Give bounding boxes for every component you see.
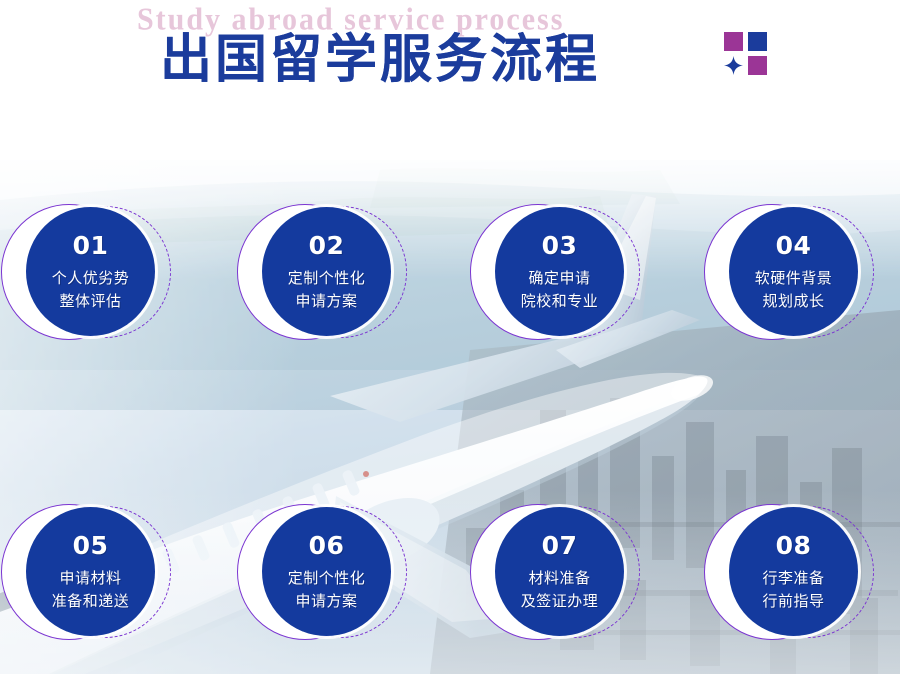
- step-number: 04: [776, 233, 812, 258]
- sparkle-star-icon: [724, 56, 743, 75]
- step-number: 06: [309, 533, 345, 558]
- step-item-07[interactable]: 07 材料准备 及签证办理: [464, 498, 660, 648]
- step-number: 01: [73, 233, 109, 258]
- purple-square-icon: [724, 32, 743, 51]
- step-text-line1: 行李准备: [762, 567, 824, 590]
- step-disc[interactable]: 06 定制个性化 申请方案: [262, 507, 391, 636]
- step-text-line2: 整体评估: [59, 290, 121, 313]
- step-disc[interactable]: 05 申请材料 准备和递送: [26, 507, 155, 636]
- step-text-line2: 及签证办理: [521, 590, 599, 613]
- step-number: 07: [542, 533, 578, 558]
- step-number: 03: [542, 233, 578, 258]
- step-text-line1: 定制个性化: [288, 567, 366, 590]
- step-text-line2: 申请方案: [295, 290, 357, 313]
- step-disc[interactable]: 02 定制个性化 申请方案: [262, 207, 391, 336]
- header-title-block: Study abroad service process 出国留学服务流程: [0, 0, 900, 110]
- step-text-line1: 定制个性化: [288, 267, 366, 290]
- step-item-04[interactable]: 04 软硬件背景 规划成长: [698, 198, 894, 348]
- step-disc[interactable]: 04 软硬件背景 规划成长: [729, 207, 858, 336]
- step-number: 05: [73, 533, 109, 558]
- step-disc[interactable]: 01 个人优劣势 整体评估: [26, 207, 155, 336]
- step-disc[interactable]: 03 确定申请 院校和专业: [495, 207, 624, 336]
- step-item-05[interactable]: 05 申请材料 准备和递送: [0, 498, 191, 648]
- step-text-line2: 准备和递送: [52, 590, 130, 613]
- step-text-line2: 行前指导: [762, 590, 824, 613]
- header-banner: Study abroad service process 出国留学服务流程: [0, 0, 900, 160]
- step-number: 02: [309, 233, 345, 258]
- purple-square-icon: [748, 56, 767, 75]
- step-text-line1: 材料准备: [528, 567, 590, 590]
- step-item-03[interactable]: 03 确定申请 院校和专业: [464, 198, 660, 348]
- step-text-line1: 个人优劣势: [52, 267, 130, 290]
- step-item-02[interactable]: 02 定制个性化 申请方案: [231, 198, 427, 348]
- step-item-01[interactable]: 01 个人优劣势 整体评估: [0, 198, 191, 348]
- blue-square-icon: [748, 32, 767, 51]
- step-text-line2: 规划成长: [762, 290, 824, 313]
- step-text-line1: 软硬件背景: [755, 267, 833, 290]
- step-text-line1: 确定申请: [528, 267, 590, 290]
- step-disc[interactable]: 07 材料准备 及签证办理: [495, 507, 624, 636]
- page-title: 出国留学服务流程: [160, 17, 600, 92]
- step-item-08[interactable]: 08 行李准备 行前指导: [698, 498, 894, 648]
- step-number: 08: [776, 533, 812, 558]
- step-item-06[interactable]: 06 定制个性化 申请方案: [231, 498, 427, 648]
- title-decoration: [724, 32, 770, 78]
- step-text-line2: 院校和专业: [521, 290, 599, 313]
- step-text-line2: 申请方案: [295, 590, 357, 613]
- step-disc[interactable]: 08 行李准备 行前指导: [729, 507, 858, 636]
- step-text-line1: 申请材料: [59, 567, 121, 590]
